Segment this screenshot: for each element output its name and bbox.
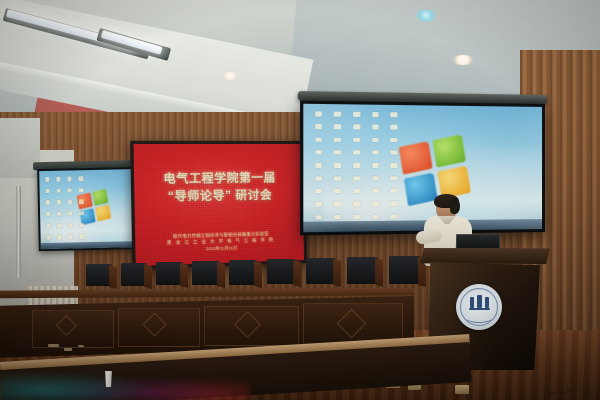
- desktop-icon[interactable]: [80, 223, 84, 228]
- desktop-icon-grid-right[interactable]: [310, 108, 403, 223]
- desktop-icon[interactable]: [353, 176, 360, 181]
- desktop-icon[interactable]: [391, 125, 398, 130]
- desktop-icon[interactable]: [46, 200, 50, 205]
- wall-pipe: [16, 186, 21, 278]
- stage-chair[interactable]: [267, 259, 296, 284]
- crest-figure: [485, 297, 489, 308]
- university-crest-icon: [456, 284, 502, 330]
- stage-chair[interactable]: [192, 261, 220, 285]
- stage-chair[interactable]: [156, 262, 183, 285]
- downlight-4: [452, 55, 474, 65]
- floor-socket-box[interactable]: [455, 385, 469, 394]
- downlight-3: [415, 10, 437, 21]
- desktop-icon[interactable]: [391, 176, 398, 181]
- chair-armrest: [333, 259, 341, 287]
- desktop-icon[interactable]: [79, 200, 83, 205]
- desktop-icon[interactable]: [391, 112, 398, 117]
- downlight-1: [222, 72, 238, 80]
- stage-chair[interactable]: [229, 260, 257, 285]
- stage-chair[interactable]: [306, 258, 336, 284]
- desktop-icon[interactable]: [79, 211, 83, 216]
- desktop-icon[interactable]: [334, 150, 341, 155]
- desktop-icon[interactable]: [372, 138, 379, 143]
- desktop-icon[interactable]: [334, 202, 341, 207]
- windows-logo-pane-red: [399, 142, 432, 175]
- desktop-icon[interactable]: [334, 137, 341, 142]
- chair-armrest: [293, 260, 301, 287]
- desktop-icon[interactable]: [353, 125, 360, 130]
- desktop-icon[interactable]: [334, 112, 341, 117]
- desktop-icon[interactable]: [315, 202, 322, 207]
- led-banner-title: 电气工程学院第一届 “导师论导” 研讨会: [134, 170, 303, 206]
- windows-desktop-right[interactable]: [303, 104, 542, 232]
- windows-logo-pane-green: [92, 189, 108, 206]
- desktop-icon[interactable]: [353, 112, 360, 117]
- floor-light-reflection: [0, 372, 250, 400]
- stage-chair[interactable]: [389, 256, 421, 284]
- crest-arc-inner: [467, 314, 491, 323]
- desktop-icon[interactable]: [315, 215, 322, 220]
- desktop-icon[interactable]: [315, 111, 322, 116]
- stage-chair[interactable]: [86, 264, 112, 286]
- power-cable: [540, 370, 576, 394]
- crest-figure: [477, 295, 482, 308]
- chair-backrest: [156, 262, 183, 285]
- desktop-icon[interactable]: [334, 215, 341, 220]
- photo-scene: 电气工程学院第一届 “导师论导” 研讨会 现代电力传输工程技术与智能化装备重点实…: [0, 0, 600, 400]
- desktop-icon[interactable]: [391, 163, 398, 168]
- windows-logo-pane-green: [433, 135, 466, 168]
- desktop-icon[interactable]: [334, 189, 341, 194]
- desktop-icon[interactable]: [334, 124, 341, 129]
- desktop-icon[interactable]: [391, 189, 398, 194]
- desktop-icon[interactable]: [334, 163, 341, 168]
- desktop-icon[interactable]: [372, 201, 379, 206]
- desktop-icon[interactable]: [47, 235, 51, 240]
- desktop-icon[interactable]: [58, 235, 62, 240]
- projection-screen-right[interactable]: [300, 101, 545, 236]
- desktop-icon[interactable]: [68, 177, 72, 182]
- desktop-icon[interactable]: [80, 234, 84, 239]
- desktop-icon[interactable]: [46, 189, 50, 194]
- desktop-icon[interactable]: [353, 137, 360, 142]
- desktop-icon[interactable]: [46, 224, 50, 229]
- chair-armrest: [254, 261, 262, 288]
- led-banner-subtitle: 现代电力传输工程技术与智能化装备重点实验室 黑 龙 江 工 业 大 学 电 气 …: [135, 230, 304, 255]
- desktop-icon[interactable]: [334, 176, 341, 181]
- desktop-icon[interactable]: [57, 188, 61, 193]
- desktop-icon[interactable]: [69, 223, 73, 228]
- desktop-icon[interactable]: [353, 202, 360, 207]
- desktop-icon[interactable]: [315, 189, 322, 194]
- led-banner-screen[interactable]: 电气工程学院第一届 “导师论导” 研讨会 现代电力传输工程技术与智能化装备重点实…: [130, 141, 307, 269]
- speaker-hair-side: [450, 198, 460, 214]
- desktop-icon[interactable]: [353, 214, 360, 219]
- desktop-icon[interactable]: [372, 189, 379, 194]
- chair-armrest: [217, 262, 225, 288]
- desktop-icon[interactable]: [372, 112, 379, 117]
- desktop-icon[interactable]: [57, 212, 61, 217]
- desktop-icon[interactable]: [68, 200, 72, 205]
- chair-backrest: [347, 257, 378, 284]
- desktop-icon[interactable]: [353, 189, 360, 194]
- desktop-icon[interactable]: [391, 214, 398, 219]
- desktop-icon[interactable]: [391, 150, 398, 155]
- laptop-screen[interactable]: [456, 234, 500, 249]
- led-title-line-2: “导师论导” 研讨会: [134, 187, 303, 207]
- desktop-icon[interactable]: [372, 176, 379, 181]
- desktop-icon[interactable]: [372, 150, 379, 155]
- stage-chair[interactable]: [121, 263, 147, 286]
- chair-armrest: [180, 263, 188, 288]
- desktop-icon[interactable]: [79, 188, 83, 193]
- desktop-icon[interactable]: [391, 138, 398, 143]
- desktop-icon[interactable]: [68, 211, 72, 216]
- chair-backrest: [389, 256, 421, 284]
- desktop-icon[interactable]: [57, 223, 61, 228]
- desktop-icon-grid-left[interactable]: [42, 173, 87, 243]
- desktop-icon[interactable]: [68, 188, 72, 193]
- desktop-icon[interactable]: [315, 163, 322, 168]
- podium-desktop-surface: [420, 248, 550, 264]
- chair-backrest: [306, 258, 336, 284]
- floor-debris: [48, 344, 59, 347]
- desktop-icon[interactable]: [315, 137, 322, 142]
- desktop-icon[interactable]: [57, 200, 61, 205]
- desktop-icon[interactable]: [79, 176, 83, 181]
- chair-armrest: [144, 264, 152, 289]
- screen-frame-right: [300, 101, 545, 236]
- desktop-icon[interactable]: [45, 177, 49, 182]
- desktop-icon[interactable]: [315, 176, 322, 181]
- desktop-icon[interactable]: [69, 235, 73, 240]
- desktop-icon[interactable]: [315, 124, 322, 129]
- chair-armrest: [375, 258, 383, 287]
- desktop-icon[interactable]: [46, 212, 50, 217]
- floor-debris: [64, 348, 72, 351]
- led-banner-frame: 电气工程学院第一届 “导师论导” 研讨会 现代电力传输工程技术与智能化装备重点实…: [130, 141, 307, 269]
- crest-figure: [470, 297, 474, 308]
- desktop-icon[interactable]: [353, 150, 360, 155]
- desktop-icon[interactable]: [57, 177, 61, 182]
- desktop-icon[interactable]: [315, 150, 322, 155]
- desktop-icon[interactable]: [372, 214, 379, 219]
- desktop-icon[interactable]: [372, 125, 379, 130]
- chair-backrest: [267, 259, 296, 284]
- floor-debris: [78, 345, 84, 347]
- desktop-icon[interactable]: [372, 163, 379, 168]
- chair-armrest: [109, 265, 117, 289]
- desktop-icon[interactable]: [391, 201, 398, 206]
- led-banner-surface: 电气工程学院第一届 “导师论导” 研讨会 现代电力传输工程技术与智能化装备重点实…: [133, 144, 304, 266]
- chair-backrest: [192, 261, 220, 285]
- desktop-icon[interactable]: [353, 163, 360, 168]
- chair-backrest: [229, 260, 257, 285]
- stage-chair[interactable]: [347, 257, 378, 284]
